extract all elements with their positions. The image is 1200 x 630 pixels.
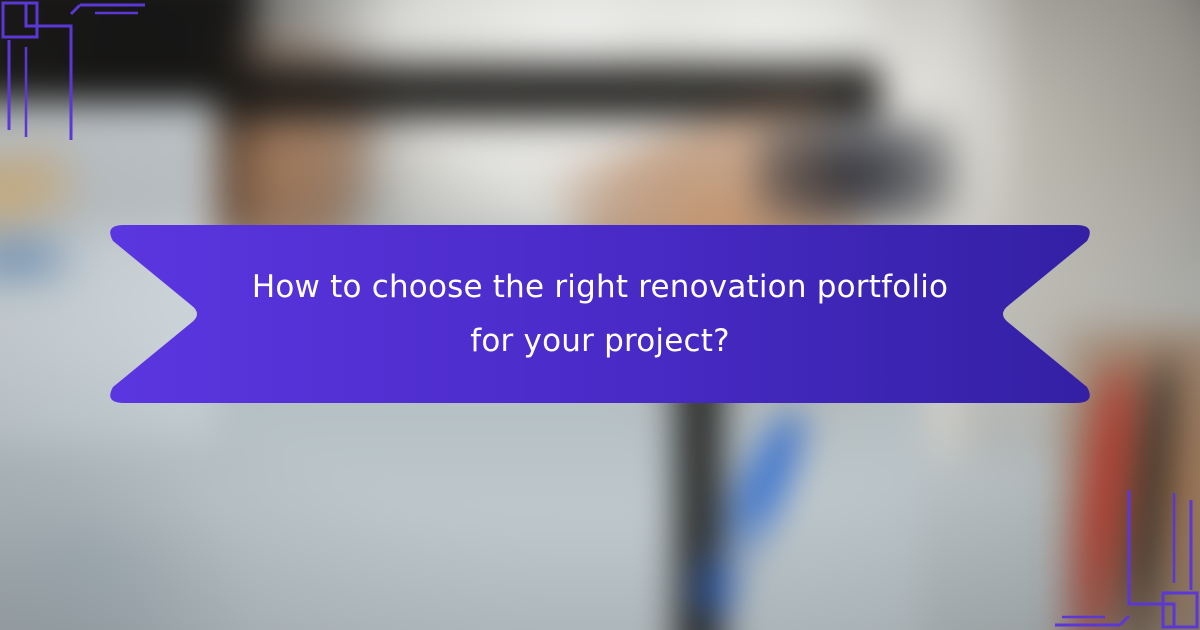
social-card-canvas: How to choose the right renovation portf… <box>0 0 1200 630</box>
headline-text: How to choose the right renovation portf… <box>294 225 906 403</box>
headline-line-1: How to choose the right renovation portf… <box>252 260 948 314</box>
headline-line-2: for your project? <box>470 314 729 368</box>
headline-ribbon: How to choose the right renovation portf… <box>104 225 1096 403</box>
